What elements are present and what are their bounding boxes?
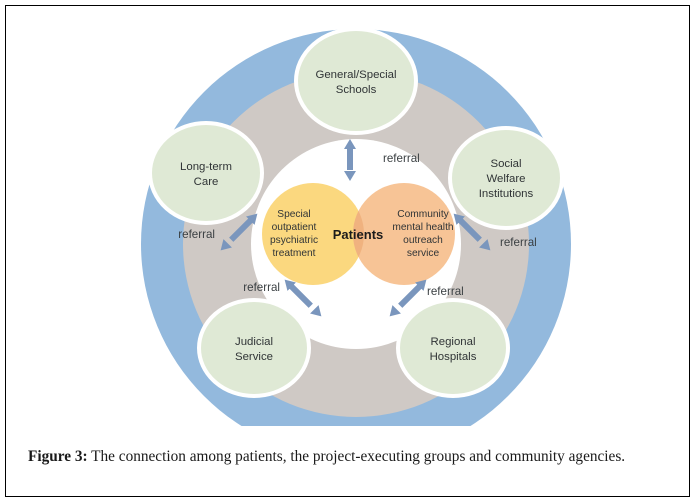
node-label-ltc-line-1: Care xyxy=(194,176,219,188)
figure-caption: Figure 3: The connection among patients,… xyxy=(28,444,668,469)
venn-right-line-2: outreach xyxy=(403,235,443,246)
node-label-social-line-2: Institutions xyxy=(479,188,534,200)
referral-label-regional-hospitals: referral xyxy=(427,285,464,298)
connection-diagram: Special outpatient psychiatric treatment… xyxy=(6,6,689,426)
venn-right-line-1: mental health xyxy=(392,222,453,233)
node-label-ltc-line-0: Long-term xyxy=(180,161,232,173)
venn-right-line-3: service xyxy=(407,248,440,259)
figure-caption-number: Figure 3: xyxy=(28,448,88,465)
node-long-term-care[interactable]: Long-term Care xyxy=(150,123,262,223)
referral-label-social-welfare: referral xyxy=(500,236,537,249)
node-label-judicial-line-0: Judicial xyxy=(235,336,273,348)
node-general-special-schools[interactable]: General/Special Schools xyxy=(296,29,416,133)
node-label-judicial-line-1: Service xyxy=(235,351,273,363)
referral-label-schools: referral xyxy=(383,152,420,165)
node-label-social-line-0: Social xyxy=(490,158,521,170)
referral-label-judicial-service: referral xyxy=(243,281,280,294)
node-label-regional-line-0: Regional xyxy=(431,336,476,348)
figure-caption-body: The connection among patients, the proje… xyxy=(88,448,626,465)
node-social-welfare-institutions[interactable]: Social Welfare Institutions xyxy=(450,128,562,228)
node-label-schools-line-0: General/Special xyxy=(315,69,396,81)
venn-left-line-0: Special xyxy=(277,209,310,220)
patients-label: Patients xyxy=(333,227,384,242)
node-label-social-line-1: Welfare xyxy=(486,173,525,185)
figure-frame: Special outpatient psychiatric treatment… xyxy=(5,5,690,497)
venn-left-line-2: psychiatric xyxy=(270,235,318,246)
venn-right-line-0: Community xyxy=(397,209,449,220)
node-label-schools-line-1: Schools xyxy=(336,84,377,96)
figure-image-area: Special outpatient psychiatric treatment… xyxy=(6,6,689,426)
node-regional-hospitals[interactable]: Regional Hospitals xyxy=(398,300,508,396)
node-label-regional-line-1: Hospitals xyxy=(430,351,477,363)
referral-label-long-term-care: referral xyxy=(178,228,215,241)
venn-left-line-3: treatment xyxy=(272,248,315,259)
node-judicial-service[interactable]: Judicial Service xyxy=(199,300,309,396)
venn-left-line-1: outpatient xyxy=(272,222,317,233)
